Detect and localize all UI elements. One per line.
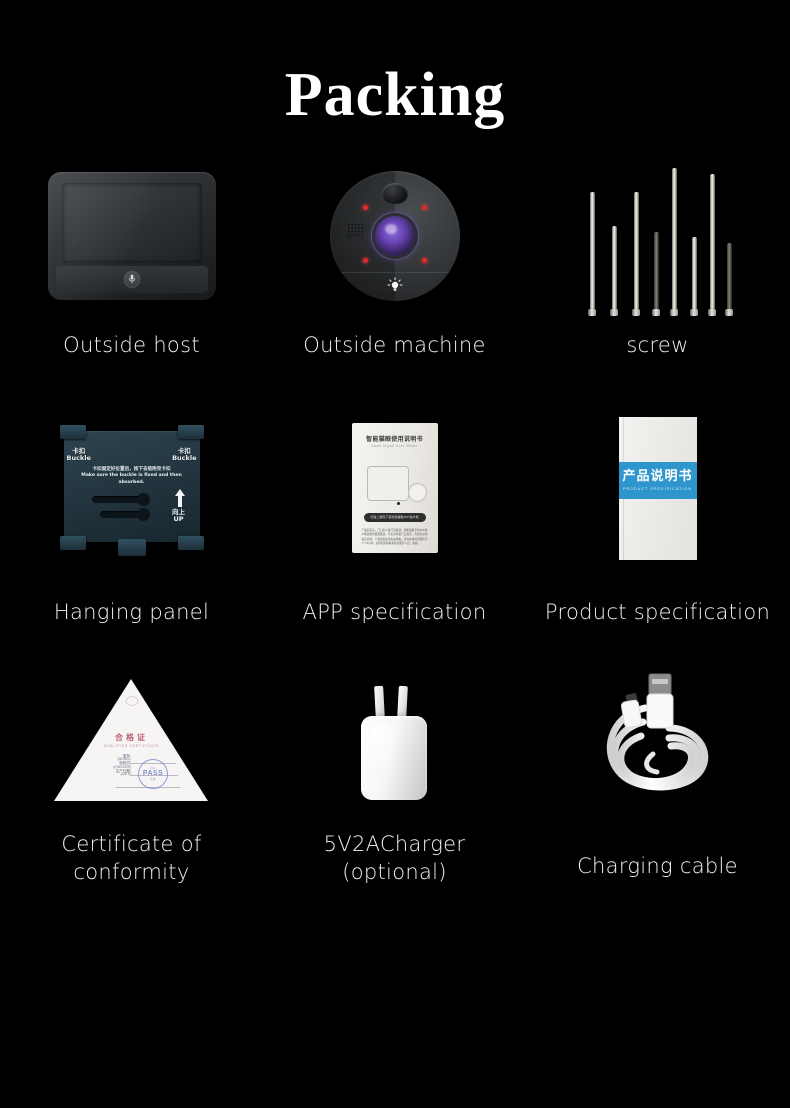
bracket-tab [178, 425, 204, 439]
speaker-grille [347, 223, 364, 238]
packing-item-charging-cable: Charging cable [526, 656, 789, 936]
booklet-qr-banner: 扫描二维码下载智能猫眼APP客户端 [364, 513, 426, 522]
round-doorbell-camera-icon [330, 171, 460, 301]
packing-item-outside-machine: Outside machine [263, 148, 526, 388]
charging-cable-label: Charging cable [526, 852, 789, 880]
bracket-tab [178, 536, 204, 550]
microphone-glyph [128, 274, 135, 284]
certificate-field: (DATE) [87, 773, 131, 777]
triangle-certificate-icon: 合格证 QUALIFIED CERTIFICATE 型号: (MODEL) 检验… [54, 679, 209, 804]
packing-item-app-specification: 智能猫眼使用说明书 Smart Digital Door Viewer 扫描二维… [263, 388, 526, 656]
certificate-label-line2: conformity [0, 858, 263, 886]
app-specification-art: 智能猫眼使用说明书 Smart Digital Door Viewer 扫描二维… [263, 388, 526, 588]
screw-item [654, 232, 659, 316]
charger-prong [374, 686, 385, 719]
booklet-qr-text: 扫描二维码下载智能猫眼APP客户端 [364, 513, 426, 522]
charger-label-line2: (optional) [263, 858, 526, 886]
booklet-title: 智能猫眼使用说明书 [352, 434, 438, 443]
bracket-tab [118, 539, 146, 556]
screw-item [612, 226, 617, 316]
bracket-tab [60, 536, 86, 550]
screw-art [526, 148, 789, 323]
buckle-label-right: 卡扣 Buckle [172, 448, 196, 463]
packing-page: Packing [0, 0, 790, 1108]
screw-item [634, 192, 639, 316]
spec-sheet-icon: 产品说明书 PRODUCT SPECIFICATION [619, 417, 697, 560]
booklet-subtitle: Smart Digital Door Viewer [352, 444, 438, 448]
hanging-panel-label: Hanging panel [0, 598, 263, 626]
app-specification-label: APP specification [263, 598, 526, 626]
outside-host-art [0, 148, 263, 323]
charging-cable-art [526, 656, 789, 826]
certificate-fields: 型号: (MODEL) 检验员: (CHECKER) 生产日期: (DATE) [87, 755, 131, 778]
charger-body [361, 716, 427, 800]
ir-led [422, 205, 427, 210]
mounting-bracket-icon: 卡扣 Buckle 卡扣 Buckle 卡扣固定好位置后，按下去吸附完卡扣 Ma… [56, 421, 208, 556]
outside-machine-art [263, 148, 526, 323]
product-specification-art: 产品说明书 PRODUCT SPECIFICATION [526, 388, 789, 588]
packing-item-charger: 5V2ACharger (optional) [263, 656, 526, 936]
certificate-art: 合格证 QUALIFIED CERTIFICATE 型号: (MODEL) 检验… [0, 656, 263, 826]
camera-seam [336, 272, 454, 273]
charger-art [263, 656, 526, 826]
packing-grid: Outside host [0, 148, 790, 936]
packing-item-screw: screw [526, 148, 789, 388]
bracket-instruction: 卡扣固定好位置后，按下去吸附完卡扣 Make sure the buckle i… [70, 467, 194, 488]
packing-row-3: 合格证 QUALIFIED CERTIFICATE 型号: (MODEL) 检验… [0, 656, 790, 936]
light-bulb-icon [387, 277, 403, 293]
buckle-label-en: Buckle [67, 455, 91, 462]
ir-led [363, 258, 368, 263]
pir-sensor [382, 183, 408, 204]
packing-item-product-specification: 产品说明书 PRODUCT SPECIFICATION Product spec… [526, 388, 789, 656]
up-label-en: UP [164, 516, 194, 523]
packing-item-outside-host: Outside host [0, 148, 263, 388]
outside-host-label: Outside host [0, 331, 263, 359]
booklet-dot [397, 502, 400, 505]
up-label: 向上 UP [164, 509, 194, 524]
pass-stamp-bottom: 合格 [150, 777, 156, 781]
spec-title-zh: 产品说明书 [622, 469, 692, 483]
screw-item [727, 243, 732, 316]
certificate-hole [125, 696, 138, 706]
screw-item [672, 168, 677, 316]
usb-cable-icon [583, 666, 733, 816]
spec-title-en: PRODUCT SPECIFICATION [623, 487, 692, 491]
screws-icon [582, 156, 734, 316]
booklet-paragraph: 产品安装后，门口有人按门铃按钮，智能猫眼手机APP客户端会收到报警推送，可实时查… [362, 529, 428, 546]
bracket-tab [60, 425, 86, 439]
host-screen [62, 183, 202, 263]
buckle-label-left: 卡扣 Buckle [67, 448, 91, 463]
charger-prong [397, 686, 408, 719]
screw-label: screw [526, 331, 789, 359]
pass-stamp-main: PASS [143, 770, 163, 777]
screw-item [710, 174, 715, 316]
ir-led [422, 258, 427, 263]
keyhole-slot [100, 511, 144, 518]
certificate-title-zh: 合格证 [54, 732, 209, 743]
booklet-camera-illustration [408, 483, 427, 502]
charger-label-line1: 5V2ACharger [263, 830, 526, 858]
booklet-device-illustration [367, 466, 409, 501]
charger-label: 5V2ACharger (optional) [263, 830, 526, 887]
camera-lens [375, 216, 415, 256]
buckle-label-en: Buckle [172, 455, 196, 462]
screw-item [692, 237, 697, 316]
page-title: Packing [0, 0, 790, 126]
spec-title-band: 产品说明书 PRODUCT SPECIFICATION [619, 462, 697, 499]
certificate-title-en: QUALIFIED CERTIFICATE [54, 744, 209, 748]
pass-stamp: QC PASS 合格 [138, 759, 168, 789]
hanging-panel-art: 卡扣 Buckle 卡扣 Buckle 卡扣固定好位置后，按下去吸附完卡扣 Ma… [0, 388, 263, 588]
outside-machine-label: Outside machine [263, 331, 526, 359]
bracket-instruction-en: Make sure the buckle is fixed and then a… [70, 473, 194, 487]
wall-charger-icon [347, 682, 443, 800]
certificate-label: Certificate of conformity [0, 830, 263, 887]
microphone-icon [123, 271, 140, 288]
packing-row-2: 卡扣 Buckle 卡扣 Buckle 卡扣固定好位置后，按下去吸附完卡扣 Ma… [0, 388, 790, 656]
packing-row-1: Outside host [0, 148, 790, 388]
product-specification-label: Product specification [526, 598, 789, 626]
manual-booklet-icon: 智能猫眼使用说明书 Smart Digital Door Viewer 扫描二维… [352, 423, 438, 553]
up-arrow-glyph [174, 489, 186, 507]
certificate-label-line1: Certificate of [0, 830, 263, 858]
micro-usb-connector [620, 693, 641, 729]
light-bulb-glyph [387, 277, 403, 293]
packing-item-certificate: 合格证 QUALIFIED CERTIFICATE 型号: (MODEL) 检验… [0, 656, 263, 936]
keyhole-slot [92, 496, 144, 503]
usb-a-connector [647, 674, 673, 728]
ir-led [363, 205, 368, 210]
screw-item [590, 192, 595, 316]
up-arrow-icon [174, 489, 186, 507]
packing-item-hanging-panel: 卡扣 Buckle 卡扣 Buckle 卡扣固定好位置后，按下去吸附完卡扣 Ma… [0, 388, 263, 656]
usb-cable-glyph [583, 666, 733, 816]
monitor-tablet-icon [48, 172, 216, 300]
